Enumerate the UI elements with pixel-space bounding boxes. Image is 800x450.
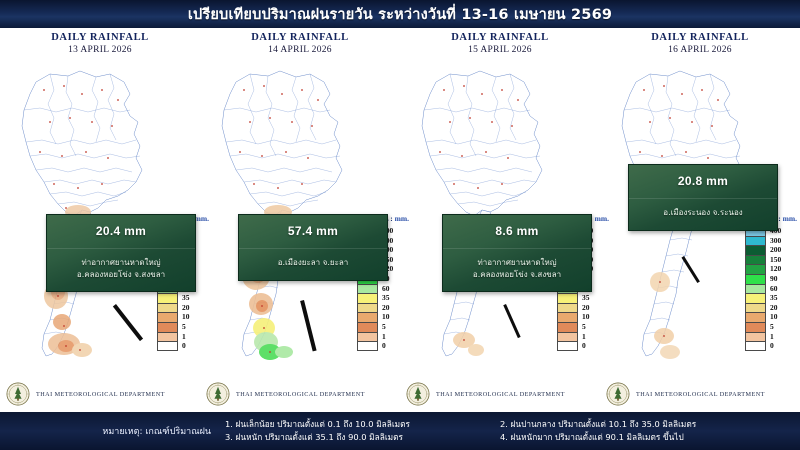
legend-step: 10 — [357, 312, 393, 322]
legend-swatch — [745, 284, 766, 294]
notes-label: หมายเหตุ: เกณฑ์ปริมาณฝน — [0, 424, 225, 438]
legend-label: 0 — [770, 341, 774, 351]
panel-day-3: DAILY RAINFALL 15 APRIL 2026 — [400, 28, 600, 412]
legend-step: 10 — [745, 312, 781, 322]
legend-label: 90 — [770, 274, 778, 284]
panel-3-heading: DAILY RAINFALL — [400, 32, 600, 43]
panel-day-4: DAILY RAINFALL 16 APRIL 2026 — [600, 28, 800, 412]
panel-3-date: 15 APRIL 2026 — [400, 45, 600, 55]
legend-label: 0 — [582, 341, 586, 351]
legend-swatch — [157, 303, 178, 313]
tmd-seal-icon — [606, 382, 630, 406]
panel-2-department: THAI METEOROLOGICAL DEPARTMENT — [236, 391, 365, 398]
notes-columns: 1. ฝนเล็กน้อย ปริมาณตั้งแต่ 0.1 ถึง 10.0… — [225, 418, 800, 444]
panel-2-date: 14 APRIL 2026 — [200, 45, 400, 55]
legend-label: 10 — [182, 312, 190, 322]
panel-4-department: THAI METEOROLOGICAL DEPARTMENT — [636, 391, 765, 398]
legend-step: 5 — [745, 322, 781, 332]
legend-label: 200 — [770, 245, 781, 255]
legend-swatch — [157, 332, 178, 342]
legend-label: 5 — [582, 322, 586, 332]
legend-label: 20 — [582, 303, 590, 313]
legend-step: 0 — [557, 341, 593, 351]
legend-step: 60 — [745, 284, 781, 294]
legend-label: 1 — [582, 332, 586, 342]
panel-day-1: DAILY RAINFALL 13 APRIL 2026 — [0, 28, 200, 412]
note-item-1: 1. ฝนเล็กน้อย ปริมาณตั้งแต่ 0.1 ถึง 10.0… — [225, 418, 500, 431]
legend-label: 60 — [770, 284, 778, 294]
legend-swatch — [745, 264, 766, 274]
legend-label: 1 — [382, 332, 386, 342]
legend-step: 5 — [157, 322, 193, 332]
legend-step: 35 — [745, 293, 781, 303]
legend-step: 1 — [157, 332, 193, 342]
legend-step: 5 — [557, 322, 593, 332]
panel-1-header: DAILY RAINFALL 13 APRIL 2026 — [0, 32, 200, 55]
callout-2-value: 57.4 mm — [239, 215, 387, 248]
legend-step: 35 — [357, 293, 393, 303]
legend-swatch — [157, 322, 178, 332]
callout-2-location: อ.เมืองยะลา จ.ยะลา — [239, 248, 387, 280]
legend-label: 35 — [770, 293, 778, 303]
legend-step: 20 — [157, 303, 193, 313]
legend-label: 0 — [182, 341, 186, 351]
legend-swatch — [745, 322, 766, 332]
panel-1-heading: DAILY RAINFALL — [0, 32, 200, 43]
legend-label: 60 — [382, 284, 390, 294]
legend-swatch — [557, 322, 578, 332]
callout-1-value: 20.4 mm — [47, 215, 195, 248]
legend-step: 1 — [745, 332, 781, 342]
panels-board: DAILY RAINFALL 13 APRIL 2026 — [0, 28, 800, 412]
legend-label: 35 — [582, 293, 590, 303]
panel-1-date: 13 APRIL 2026 — [0, 45, 200, 55]
legend-step: 0 — [357, 341, 393, 351]
legend-step: 20 — [357, 303, 393, 313]
callout-1: 20.4 mm ท่าอากาศยานหาดใหญ่ อ.คลองหอยโข่ง… — [46, 214, 196, 292]
legend-step: 1 — [557, 332, 593, 342]
legend-step: 0 — [745, 341, 781, 351]
panel-3-department: THAI METEOROLOGICAL DEPARTMENT — [436, 391, 565, 398]
legend-step: 10 — [157, 312, 193, 322]
callout-3-value: 8.6 mm — [443, 215, 591, 248]
legend-label: 35 — [382, 293, 390, 303]
legend-label: 1 — [770, 332, 774, 342]
panel-2-footer: THAI METEOROLOGICAL DEPARTMENT — [206, 382, 365, 406]
legend-swatch — [357, 322, 378, 332]
panel-2-header: DAILY RAINFALL 14 APRIL 2026 — [200, 32, 400, 55]
legend-label: 20 — [382, 303, 390, 313]
note-item-2: 2. ฝนปานกลาง ปริมาณตั้งแต่ 10.1 ถึง 35.0… — [500, 418, 775, 431]
legend-swatch — [557, 341, 578, 351]
legend-step: 90 — [745, 274, 781, 284]
callout-4-value: 20.8 mm — [629, 165, 777, 198]
panel-day-2: DAILY RAINFALL 14 APRIL 2026 — [200, 28, 400, 412]
legend-swatch — [745, 312, 766, 322]
legend-label: 0 — [382, 341, 386, 351]
legend-swatch — [357, 332, 378, 342]
legend-swatch — [357, 312, 378, 322]
legend-swatch — [745, 332, 766, 342]
page-title: เปรียบเทียบปริมาณฝนรายวัน ระหว่างวันที่ … — [188, 3, 612, 26]
panel-1-footer: THAI METEOROLOGICAL DEPARTMENT — [6, 382, 165, 406]
legend-step: 20 — [745, 303, 781, 313]
title-bar: เปรียบเทียบปริมาณฝนรายวัน ระหว่างวันที่ … — [0, 0, 800, 28]
legend-4-scale: 4003002001501209060352010510 — [745, 226, 781, 351]
legend-swatch — [357, 284, 378, 294]
legend-label: 5 — [182, 322, 186, 332]
legend-swatch — [357, 341, 378, 351]
legend-label: 20 — [182, 303, 190, 313]
legend-label: 120 — [770, 264, 781, 274]
legend-step: 10 — [557, 312, 593, 322]
legend-label: 10 — [382, 312, 390, 322]
legend-step: 150 — [745, 255, 781, 265]
legend-label: 300 — [770, 236, 781, 246]
legend-label: 10 — [582, 312, 590, 322]
callout-3-location: ท่าอากาศยานหาดใหญ่ อ.คลองหอยโข่ง จ.สงขลา — [443, 248, 591, 291]
legend-swatch — [745, 255, 766, 265]
legend-swatch — [557, 303, 578, 313]
legend-swatch — [157, 293, 178, 303]
legend-label: 5 — [770, 322, 774, 332]
legend-step: 120 — [745, 264, 781, 274]
legend-step: 0 — [157, 341, 193, 351]
legend-step: 20 — [557, 303, 593, 313]
note-item-4: 4. ฝนหนักมาก ปริมาณตั้งแต่ 90.1 มิลลิเมต… — [500, 431, 775, 444]
legend-swatch — [745, 293, 766, 303]
notes-column-left: 1. ฝนเล็กน้อย ปริมาณตั้งแต่ 0.1 ถึง 10.0… — [225, 418, 500, 444]
legend-swatch — [745, 236, 766, 246]
legend-step: 1 — [357, 332, 393, 342]
legend-step: 35 — [557, 293, 593, 303]
callout-4-location: อ.เมืองระนอง จ.ระนอง — [629, 198, 777, 230]
tmd-seal-icon — [206, 382, 230, 406]
legend-swatch — [745, 245, 766, 255]
legend-label: 20 — [770, 303, 778, 313]
legend-swatch — [357, 303, 378, 313]
panel-3-header: DAILY RAINFALL 15 APRIL 2026 — [400, 32, 600, 55]
panel-2-heading: DAILY RAINFALL — [200, 32, 400, 43]
legend-swatch — [557, 293, 578, 303]
legend-step: 35 — [157, 293, 193, 303]
legend-swatch — [557, 332, 578, 342]
notes-column-right: 2. ฝนปานกลาง ปริมาณตั้งแต่ 10.1 ถึง 35.0… — [500, 418, 775, 444]
callout-2: 57.4 mm อ.เมืองยะลา จ.ยะลา — [238, 214, 388, 281]
rainfall-comparison-infographic: เปรียบเทียบปริมาณฝนรายวัน ระหว่างวันที่ … — [0, 0, 800, 450]
panel-4-date: 16 APRIL 2026 — [600, 45, 800, 55]
panel-3-footer: THAI METEOROLOGICAL DEPARTMENT — [406, 382, 565, 406]
legend-label: 5 — [382, 322, 386, 332]
legend-swatch — [745, 341, 766, 351]
tmd-seal-icon — [6, 382, 30, 406]
callout-4: 20.8 mm อ.เมืองระนอง จ.ระนอง — [628, 164, 778, 231]
legend-swatch — [745, 303, 766, 313]
legend-step: 60 — [357, 284, 393, 294]
legend-swatch — [157, 341, 178, 351]
legend-swatch — [557, 312, 578, 322]
legend-swatch — [745, 274, 766, 284]
panel-4-footer: THAI METEOROLOGICAL DEPARTMENT — [606, 382, 765, 406]
legend-step: 300 — [745, 236, 781, 246]
tmd-seal-icon — [406, 382, 430, 406]
legend-label: 1 — [182, 332, 186, 342]
panel-1-department: THAI METEOROLOGICAL DEPARTMENT — [36, 391, 165, 398]
note-item-3: 3. ฝนหนัก ปริมาณตั้งแต่ 35.1 ถึง 90.0 มิ… — [225, 431, 500, 444]
legend-label: 150 — [770, 255, 781, 265]
panel-4-header: DAILY RAINFALL 16 APRIL 2026 — [600, 32, 800, 55]
notes-bar: หมายเหตุ: เกณฑ์ปริมาณฝน 1. ฝนเล็กน้อย ปร… — [0, 412, 800, 450]
legend-swatch — [357, 293, 378, 303]
callout-3: 8.6 mm ท่าอากาศยานหาดใหญ่ อ.คลองหอยโข่ง … — [442, 214, 592, 292]
legend-label: 35 — [182, 293, 190, 303]
legend-label: 10 — [770, 312, 778, 322]
legend-swatch — [157, 312, 178, 322]
legend-step: 200 — [745, 245, 781, 255]
callout-1-location: ท่าอากาศยานหาดใหญ่ อ.คลองหอยโข่ง จ.สงขลา — [47, 248, 195, 291]
legend-step: 5 — [357, 322, 393, 332]
panel-4-heading: DAILY RAINFALL — [600, 32, 800, 43]
